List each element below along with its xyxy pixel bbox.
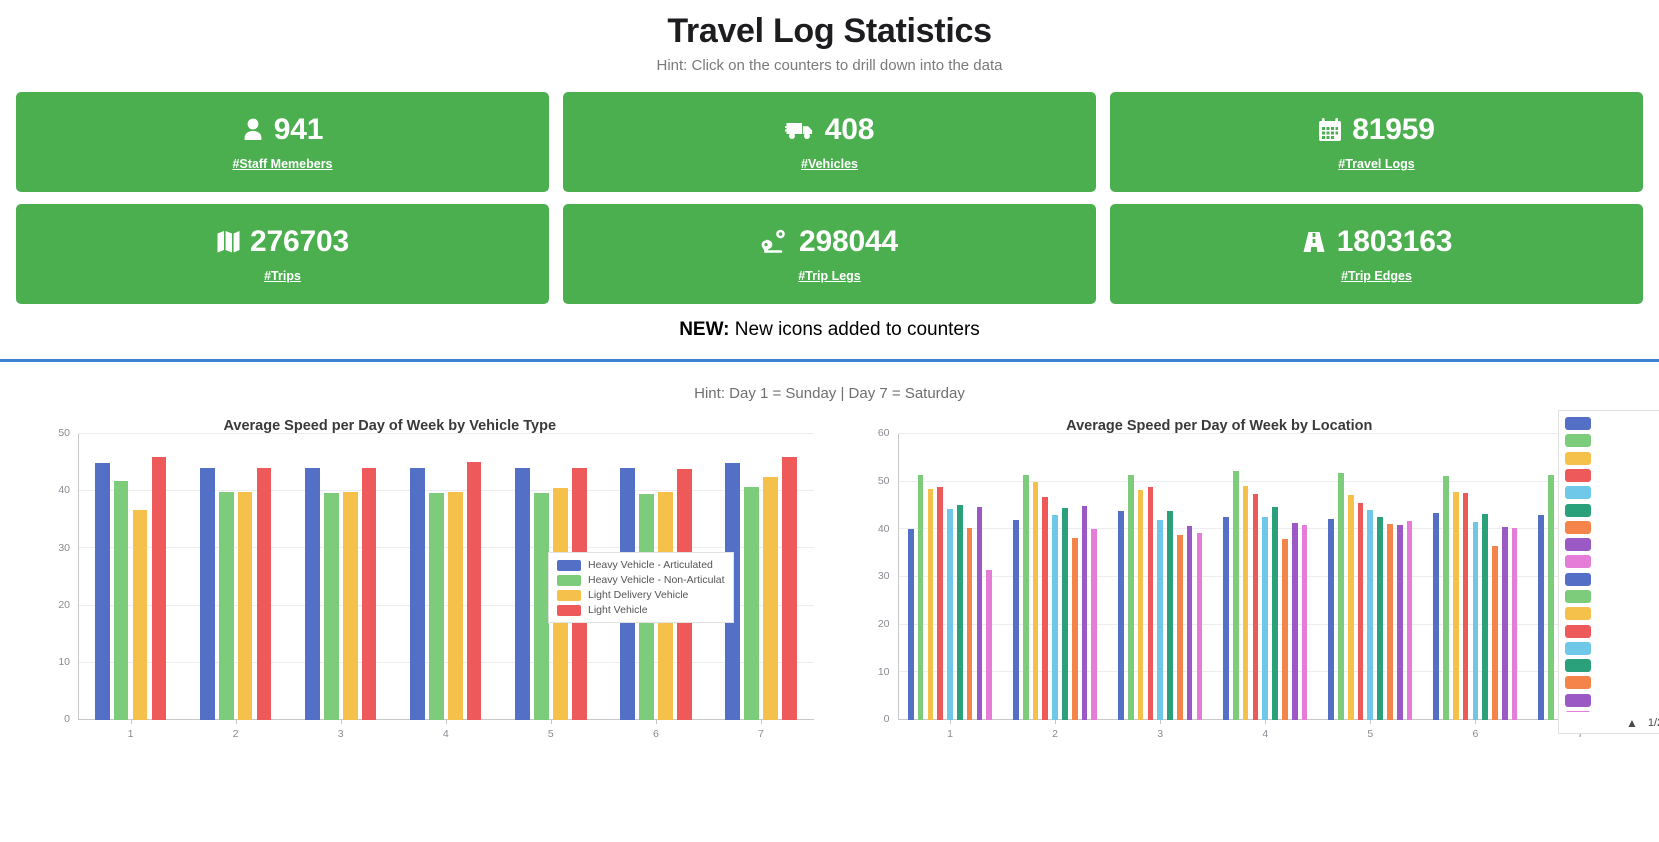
legend-swatch — [1565, 607, 1591, 620]
bar[interactable] — [918, 475, 924, 720]
counter-label[interactable]: #Vehicles — [801, 157, 858, 171]
legend-page-count: 1/2 — [1648, 717, 1659, 729]
calendar-icon — [1318, 117, 1342, 143]
y-axis-tick-label: 60 — [878, 427, 890, 439]
bar[interactable] — [324, 493, 339, 720]
bar[interactable] — [1328, 519, 1334, 720]
y-axis-tick-label: 40 — [878, 523, 890, 535]
bar[interactable] — [1453, 492, 1459, 720]
bar[interactable] — [1177, 535, 1183, 720]
bar[interactable] — [744, 487, 759, 720]
bar[interactable] — [977, 507, 983, 720]
legend-item[interactable] — [1565, 502, 1659, 517]
bar[interactable] — [1407, 521, 1413, 720]
bar[interactable] — [1243, 486, 1249, 720]
y-axis-tick-label: 30 — [58, 542, 70, 554]
bar[interactable] — [1397, 525, 1403, 720]
bar[interactable] — [1538, 515, 1544, 720]
legend-item[interactable]: Heavy Vehicle - Non-Articulated — [557, 574, 725, 586]
y-axis-tick-label: 50 — [878, 475, 890, 487]
bar[interactable] — [1091, 529, 1097, 720]
bar[interactable] — [1187, 526, 1193, 720]
bar[interactable] — [1197, 533, 1203, 720]
road-icon — [1301, 229, 1327, 255]
y-axis-tick-label: 40 — [58, 484, 70, 496]
map-icon — [216, 229, 240, 255]
counter-value: 81959 — [1352, 113, 1434, 147]
x-axis-tick-label: 6 — [653, 728, 659, 740]
x-axis-tick-mark — [131, 720, 132, 724]
legend-item[interactable] — [1565, 675, 1659, 690]
bar[interactable] — [1157, 520, 1163, 720]
bar[interactable] — [1148, 487, 1154, 720]
legend-item[interactable] — [1565, 623, 1659, 638]
y-axis-tick-label: 0 — [64, 713, 70, 725]
charts-hint: Hint: Day 1 = Sunday | Day 7 = Saturday — [0, 384, 1659, 404]
legend-item[interactable] — [1565, 485, 1659, 500]
y-axis-tick-label: 20 — [58, 599, 70, 611]
bar[interactable] — [95, 463, 110, 720]
route-icon — [761, 229, 789, 255]
bar[interactable] — [1138, 490, 1144, 720]
legend-swatch — [1565, 694, 1591, 707]
x-axis-tick-mark — [1370, 720, 1371, 724]
legend-label: Light Delivery Vehicle — [588, 589, 688, 601]
counter-label[interactable]: #Travel Logs — [1338, 157, 1414, 171]
chart-average-speed-by-location: Average Speed per Day of Week by Locatio… — [830, 412, 1650, 752]
chart-title: Average Speed per Day of Week by Locatio… — [790, 418, 1650, 434]
counter-label[interactable]: #Staff Memebers — [232, 157, 332, 171]
bar[interactable] — [362, 468, 377, 720]
x-axis-tick-label: 1 — [947, 728, 953, 740]
y-axis-tick-label: 20 — [878, 618, 890, 630]
legend-item[interactable] — [1565, 433, 1659, 448]
legend-item[interactable] — [1565, 416, 1659, 431]
x-axis-tick-mark — [1160, 720, 1161, 724]
counter-value: 408 — [825, 113, 874, 147]
bar[interactable] — [448, 492, 463, 720]
bar[interactable] — [1482, 514, 1488, 720]
bar[interactable] — [1062, 508, 1068, 720]
legend-label: Light Vehicle — [588, 604, 648, 616]
x-axis-tick-mark — [551, 720, 552, 724]
x-axis-tick-mark — [446, 720, 447, 724]
counter-top: 81959 — [1318, 113, 1434, 147]
plot-area-location: 01020304050601234567 — [898, 434, 1634, 720]
x-axis-tick-label: 2 — [233, 728, 239, 740]
y-axis-tick-label: 30 — [878, 570, 890, 582]
legend-item[interactable] — [1565, 468, 1659, 483]
bar[interactable] — [410, 468, 425, 720]
legend-item[interactable]: Heavy Vehicle - Articulated — [557, 559, 725, 571]
legend-swatch — [1565, 486, 1591, 499]
counter-value: 298044 — [799, 225, 898, 259]
counter-grid: 941#Staff Memebers408#Vehicles81959#Trav… — [0, 84, 1659, 304]
person-icon — [242, 117, 264, 143]
counter-label[interactable]: #Trip Legs — [798, 269, 861, 283]
new-feature-banner: NEW: New icons added to counters — [0, 318, 1659, 342]
bar[interactable] — [1302, 525, 1308, 720]
counter-top: 408 — [785, 113, 874, 147]
counter-top: 298044 — [761, 225, 898, 259]
y-axis-tick-label: 10 — [878, 666, 890, 678]
bar[interactable] — [1502, 527, 1508, 720]
bar[interactable] — [928, 489, 934, 720]
legend-label: Heavy Vehicle - Non-Articulated — [588, 574, 725, 586]
x-axis-tick-label: 1 — [128, 728, 134, 740]
x-axis-tick-label: 7 — [758, 728, 764, 740]
legend-swatch — [557, 560, 581, 571]
legend-item[interactable] — [1565, 589, 1659, 604]
bar[interactable] — [1072, 538, 1078, 720]
counter-card-trips[interactable]: 276703#Trips — [16, 204, 549, 304]
x-axis-tick-label: 4 — [443, 728, 449, 740]
counter-card-staff-memebers[interactable]: 941#Staff Memebers — [16, 92, 549, 192]
x-axis-tick-label: 2 — [1052, 728, 1058, 740]
legend-swatch — [1565, 538, 1591, 551]
bar[interactable] — [238, 492, 253, 720]
chart-average-speed-by-vehicle-type: Average Speed per Day of Week by Vehicle… — [10, 412, 830, 752]
dashboard-page: Travel Log Statistics Hint: Click on the… — [0, 10, 1659, 842]
page-hint: Hint: Click on the counters to drill dow… — [0, 56, 1659, 76]
bar[interactable] — [763, 477, 778, 720]
legend-swatch — [1565, 642, 1591, 655]
bar[interactable] — [429, 493, 444, 720]
bar[interactable] — [1358, 503, 1364, 720]
counter-value: 1803163 — [1337, 225, 1452, 259]
legend-item[interactable] — [1565, 520, 1659, 535]
y-axis-tick-label: 50 — [58, 427, 70, 439]
counter-card-vehicles[interactable]: 408#Vehicles — [563, 92, 1096, 192]
bar[interactable] — [1082, 506, 1088, 721]
bar[interactable] — [1512, 528, 1518, 720]
legend-swatch — [557, 575, 581, 586]
bar[interactable] — [908, 529, 914, 720]
bar[interactable] — [1443, 476, 1449, 720]
counter-top: 276703 — [216, 225, 349, 259]
bar[interactable] — [1348, 495, 1354, 720]
bar[interactable] — [782, 457, 797, 720]
legend-label: Heavy Vehicle - Articulated — [588, 559, 713, 571]
bar[interactable] — [257, 468, 272, 720]
bar[interactable] — [1473, 522, 1479, 720]
truck-icon — [785, 118, 815, 142]
bar[interactable] — [1292, 523, 1298, 720]
legend-swatch — [1565, 469, 1591, 482]
legend-swatch — [1565, 521, 1591, 534]
page-title: Travel Log Statistics — [0, 10, 1659, 52]
bar[interactable] — [1233, 471, 1239, 720]
bar[interactable] — [1223, 517, 1229, 720]
x-axis-tick-label: 5 — [1367, 728, 1373, 740]
x-axis-tick-mark — [1055, 720, 1056, 724]
bar[interactable] — [515, 468, 530, 720]
chart-legend-vehicle-type[interactable]: Heavy Vehicle - ArticulatedHeavy Vehicle… — [548, 552, 734, 623]
x-axis-tick-label: 4 — [1262, 728, 1268, 740]
new-tag: NEW: — [679, 319, 729, 340]
x-axis-tick-label: 5 — [548, 728, 554, 740]
bars-layer — [898, 434, 1634, 720]
chart-title: Average Speed per Day of Week by Vehicle… — [0, 418, 830, 434]
x-axis-tick-mark — [761, 720, 762, 724]
x-axis-tick-mark — [341, 720, 342, 724]
legend-item[interactable] — [1565, 537, 1659, 552]
x-axis-tick-mark — [1265, 720, 1266, 724]
bar[interactable] — [1272, 507, 1278, 720]
x-axis-tick-mark — [1475, 720, 1476, 724]
bar[interactable] — [1367, 510, 1373, 720]
legend-swatch — [1565, 504, 1591, 517]
counter-value: 276703 — [250, 225, 349, 259]
new-banner-text: New icons added to counters — [730, 319, 980, 340]
bar[interactable] — [1118, 511, 1124, 720]
legend-item[interactable]: Light Delivery Vehicle — [557, 589, 725, 601]
bar[interactable] — [219, 492, 234, 720]
x-axis-tick-mark — [950, 720, 951, 724]
bar[interactable] — [152, 457, 167, 720]
bar[interactable] — [986, 570, 992, 720]
legend-swatch — [1565, 659, 1591, 672]
bar[interactable] — [133, 510, 148, 720]
legend-swatch — [557, 590, 581, 601]
bar[interactable] — [1033, 482, 1039, 720]
legend-swatch — [1565, 676, 1591, 689]
bar[interactable] — [1023, 475, 1029, 720]
bar[interactable] — [1013, 520, 1019, 720]
y-axis-tick-label: 10 — [58, 656, 70, 668]
bar[interactable] — [967, 528, 973, 720]
legend-item[interactable] — [1565, 606, 1659, 621]
bar[interactable] — [534, 493, 549, 720]
bar[interactable] — [343, 492, 358, 720]
legend-swatch — [1565, 417, 1591, 430]
bar[interactable] — [1338, 473, 1344, 720]
bar[interactable] — [947, 509, 953, 720]
legend-item[interactable] — [1565, 554, 1659, 569]
bar[interactable] — [1387, 524, 1393, 720]
legend-item[interactable] — [1565, 451, 1659, 466]
legend-item[interactable]: Light Vehicle — [557, 604, 725, 616]
bar[interactable] — [1377, 517, 1383, 720]
counter-card-trip-edges[interactable]: 1803163#Trip Edges — [1110, 204, 1643, 304]
legend-swatch — [557, 605, 581, 616]
bar[interactable] — [114, 481, 129, 720]
bar[interactable] — [1128, 475, 1134, 720]
bar[interactable] — [1167, 511, 1173, 720]
legend-swatch — [1565, 555, 1591, 568]
counter-label[interactable]: #Trips — [264, 269, 301, 283]
legend-swatch — [1565, 590, 1591, 603]
bar[interactable] — [1463, 493, 1469, 720]
bar[interactable] — [305, 468, 320, 720]
counter-top: 941 — [242, 113, 323, 147]
legend-swatch — [1565, 434, 1591, 447]
x-axis-tick-label: 3 — [338, 728, 344, 740]
y-axis-tick-label: 0 — [884, 713, 890, 725]
counter-top: 1803163 — [1301, 225, 1452, 259]
x-axis-tick-label: 3 — [1157, 728, 1163, 740]
legend-item[interactable] — [1565, 641, 1659, 656]
bar[interactable] — [200, 468, 215, 720]
legend-page-up-icon[interactable]: ▲ — [1626, 717, 1638, 729]
x-axis-tick-mark — [656, 720, 657, 724]
bar[interactable] — [1253, 494, 1259, 720]
bar[interactable] — [1282, 539, 1288, 720]
bar[interactable] — [1492, 546, 1498, 720]
legend-item[interactable] — [1565, 658, 1659, 673]
bar[interactable] — [1433, 513, 1439, 720]
bar[interactable] — [467, 462, 482, 720]
counter-card-travel-logs[interactable]: 81959#Travel Logs — [1110, 92, 1643, 192]
bar[interactable] — [957, 505, 963, 720]
section-divider — [0, 359, 1659, 362]
charts-row: Average Speed per Day of Week by Vehicle… — [0, 412, 1659, 752]
legend-item[interactable] — [1565, 693, 1659, 708]
bar[interactable] — [937, 487, 943, 720]
legend-item[interactable] — [1565, 572, 1659, 587]
legend-swatch — [1565, 573, 1591, 586]
chart-legend-location[interactable] — [1558, 410, 1659, 728]
bar[interactable] — [1262, 517, 1268, 720]
counter-value: 941 — [274, 113, 323, 147]
bar[interactable] — [1042, 497, 1048, 720]
legend-pager[interactable]: ▲ 1/2 ▼ — [1558, 712, 1659, 734]
legend-swatch — [1565, 452, 1591, 465]
x-axis-tick-mark — [236, 720, 237, 724]
counter-card-trip-legs[interactable]: 298044#Trip Legs — [563, 204, 1096, 304]
x-axis-tick-label: 6 — [1472, 728, 1478, 740]
legend-swatch — [1565, 625, 1591, 638]
bar[interactable] — [1052, 515, 1058, 720]
bar[interactable] — [1548, 475, 1554, 720]
counter-label[interactable]: #Trip Edges — [1341, 269, 1412, 283]
